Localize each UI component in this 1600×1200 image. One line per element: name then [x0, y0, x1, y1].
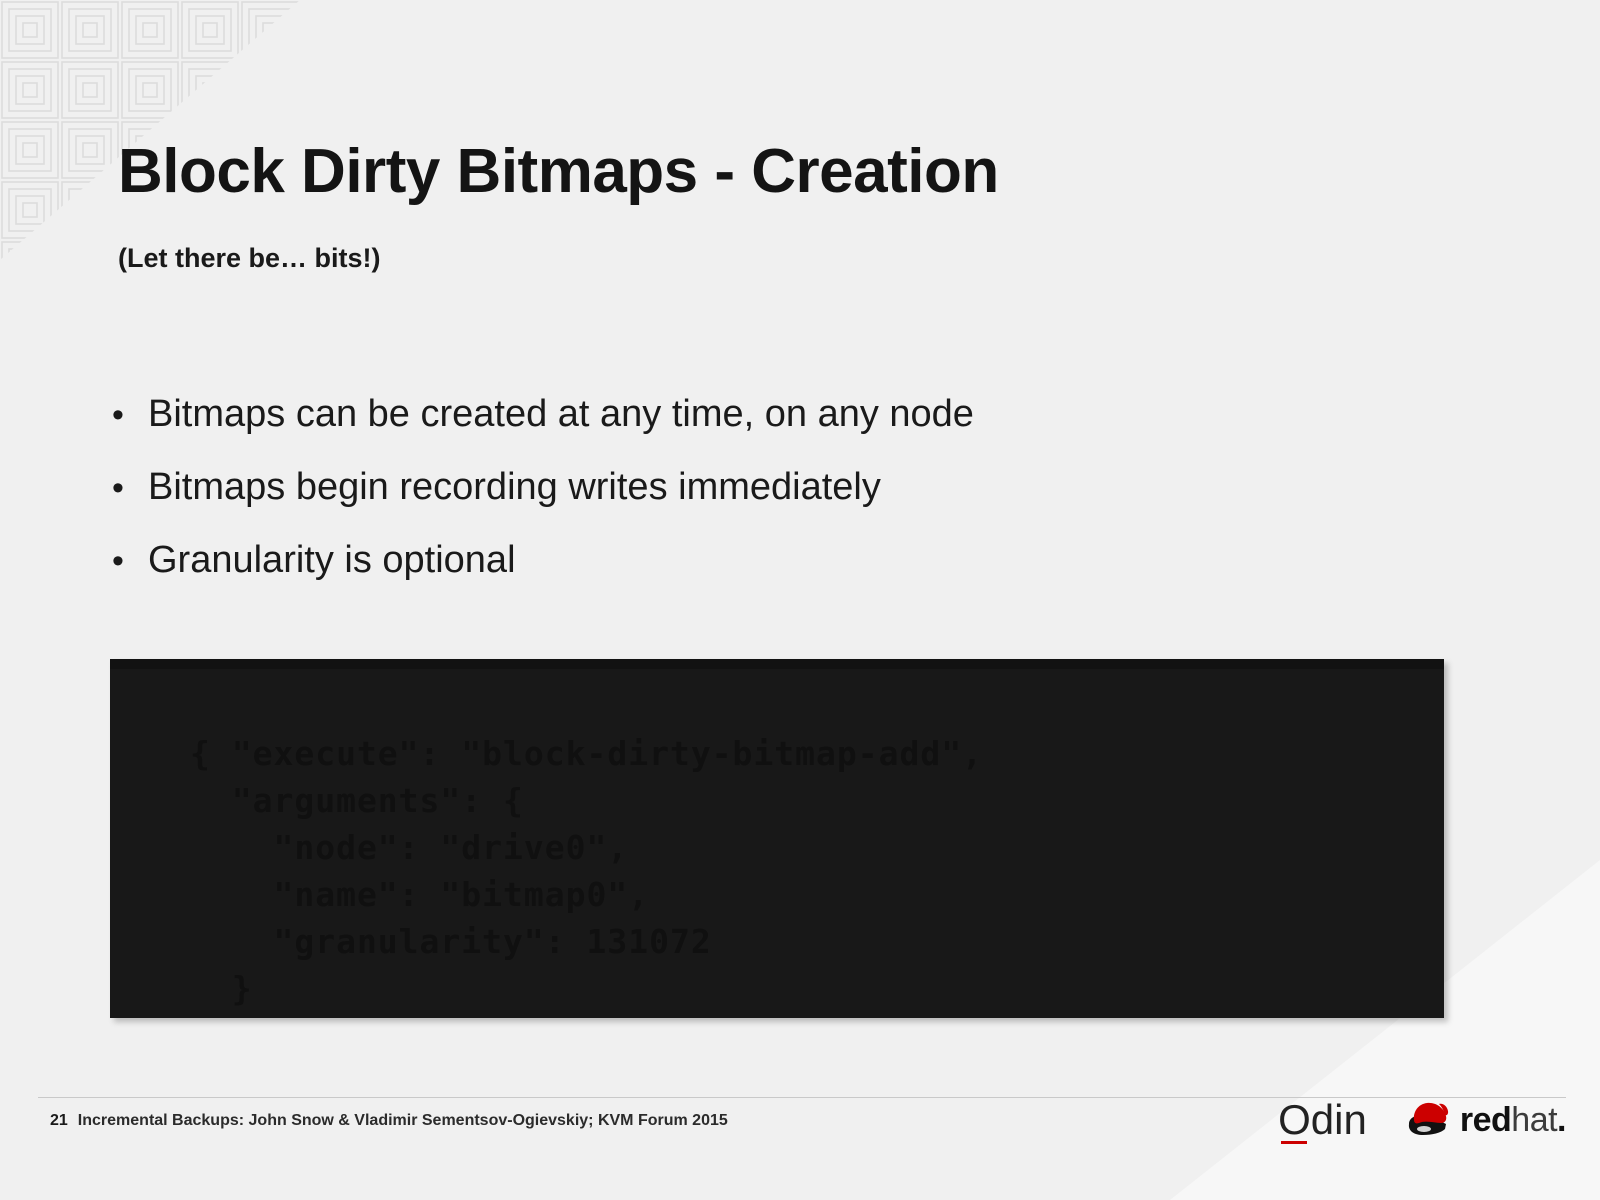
bullet-marker-icon: • — [112, 398, 148, 432]
bullet-text: Granularity is optional — [148, 538, 516, 583]
bullet-text: Bitmaps begin recording writes immediate… — [148, 465, 881, 510]
bullet-text: Bitmaps can be created at any time, on a… — [148, 392, 974, 437]
code-block: { "execute": "block-dirty-bitmap-add", "… — [110, 659, 1444, 1018]
slide-title: Block Dirty Bitmaps - Creation — [118, 139, 999, 204]
redhat-wordmark: redhat. — [1460, 1103, 1566, 1137]
footer: 21 Incremental Backups: John Snow & Vlad… — [50, 1112, 728, 1130]
slide-subtitle: (Let there be… bits!) — [118, 243, 381, 274]
redhat-word-red: red — [1460, 1101, 1511, 1139]
redhat-shadowman-icon — [1401, 1098, 1453, 1141]
corner-diagonal-mask — [0, 0, 300, 260]
bullet-list: • Bitmaps can be created at any time, on… — [112, 392, 1412, 610]
bullet-marker-icon: • — [112, 544, 148, 578]
odin-logo-text: Odin — [1278, 1096, 1367, 1143]
list-item: • Granularity is optional — [112, 538, 1412, 583]
footer-caption: Incremental Backups: John Snow & Vladimi… — [78, 1112, 728, 1130]
redhat-word-hat: hat — [1511, 1101, 1557, 1139]
redhat-logo: redhat. — [1401, 1098, 1566, 1141]
code-block-text: { "execute": "block-dirty-bitmap-add", "… — [190, 730, 983, 1018]
code-block-top-strip — [110, 659, 1444, 669]
redhat-period: . — [1557, 1101, 1566, 1139]
odin-logo-accent-underline — [1281, 1141, 1307, 1144]
bullet-marker-icon: • — [112, 471, 148, 505]
logo-group: Odin redhat. — [1278, 1098, 1566, 1141]
page-number: 21 — [50, 1112, 68, 1130]
corner-pattern-decoration — [0, 0, 300, 260]
list-item: • Bitmaps begin recording writes immedia… — [112, 465, 1412, 510]
odin-logo: Odin — [1278, 1099, 1367, 1141]
presentation-slide: Block Dirty Bitmaps - Creation (Let ther… — [0, 0, 1600, 1200]
list-item: • Bitmaps can be created at any time, on… — [112, 392, 1412, 437]
